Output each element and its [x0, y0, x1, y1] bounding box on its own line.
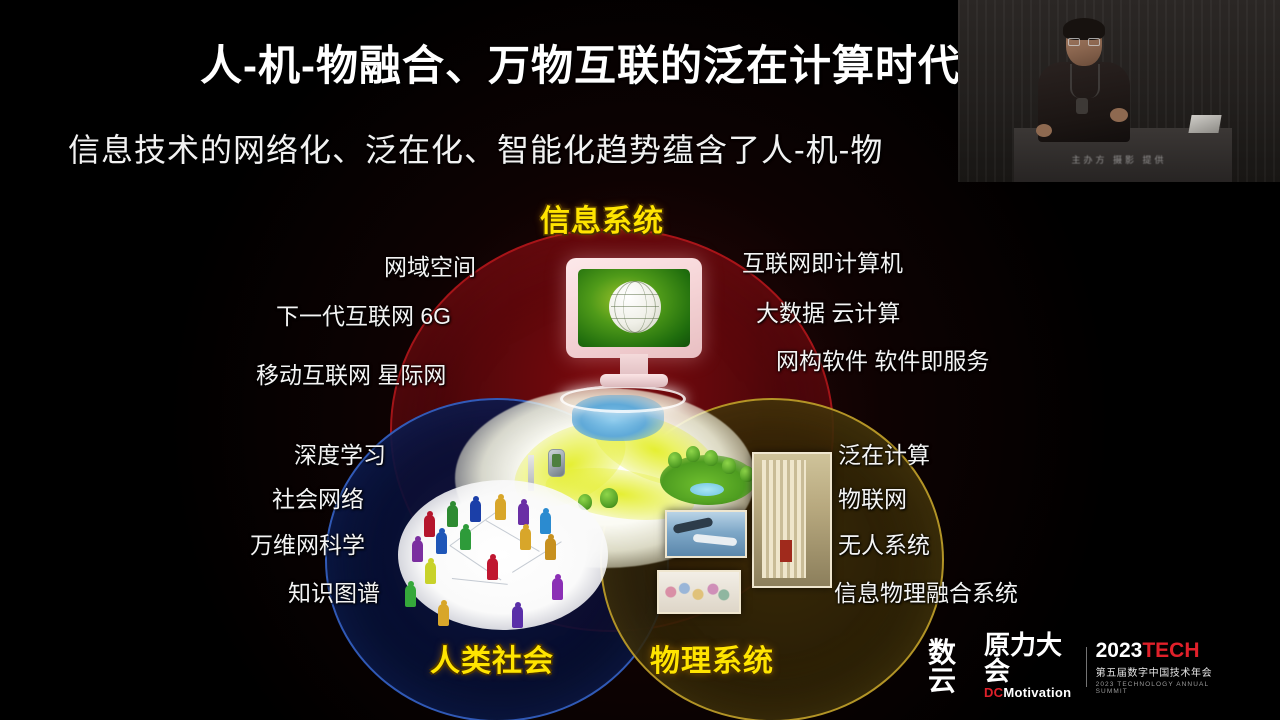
keyword-bottom-left-0: 深度学习: [294, 436, 386, 470]
person-icon: [447, 505, 458, 527]
keyword-top-right-0: 互联网即计算机: [742, 244, 903, 278]
logo-dc-motivation: DCMotivation: [984, 684, 1077, 702]
person-icon: [436, 532, 447, 554]
person-icon: [460, 528, 471, 550]
tree-icon: [600, 488, 618, 508]
person-icon: [412, 540, 423, 562]
person-icon: [552, 578, 563, 600]
person-icon: [520, 528, 531, 550]
monitor-body: [566, 258, 702, 358]
monitor-screen: [578, 269, 690, 347]
logo-tech-text: TECH: [1142, 640, 1199, 661]
speaker-hand: [1110, 108, 1128, 122]
logo-subtitle-en: 2023 TECHNOLOGY ANNUAL SUMMIT: [1096, 681, 1228, 695]
monitor-neck: [620, 354, 648, 376]
tree-icon: [668, 452, 682, 468]
speaker-video-overlay[interactable]: 主办方 摄影 提供: [958, 0, 1280, 182]
laptop-icon: [1188, 115, 1221, 133]
computer-monitor-icon: [566, 258, 702, 390]
keyword-top-left-2: 移动互联网 星际网: [256, 356, 446, 390]
crowd-photo: [657, 570, 741, 614]
lake-icon: [690, 483, 724, 496]
mobile-phone-icon: [548, 449, 565, 477]
keyword-top-right-2: 网构软件 软件即服务: [776, 342, 989, 376]
logo-motivation-text: Motivation: [1003, 685, 1071, 700]
logo-subtitle-cn: 第五届数字中国技术年会: [1096, 664, 1228, 679]
airplane-photo: [665, 510, 747, 558]
person-icon: [424, 515, 435, 537]
microphone-icon: [1076, 98, 1088, 114]
person-icon: [438, 604, 449, 626]
keyword-bottom-right-0: 泛在计算: [838, 436, 930, 470]
logo-dc-text: DC: [984, 685, 1003, 700]
speaker-hair: [1063, 18, 1105, 40]
presentation-slide: 人-机-物融合、万物互联的泛在计算时代 信息技术的网络化、泛在化、智能化趋势蕴含…: [0, 0, 1280, 720]
keyword-top-left-1: 下一代互联网 6G: [276, 297, 451, 331]
tree-icon: [722, 458, 736, 474]
logo-year-tech: 2023TECH: [1096, 640, 1228, 661]
logo-brand-cn: 数云: [928, 639, 978, 695]
logo-year-text: 2023: [1096, 640, 1143, 661]
keyword-bottom-left-1: 社会网络: [272, 480, 364, 514]
person-icon: [425, 562, 436, 584]
person-icon: [512, 606, 523, 628]
keyword-bottom-right-2: 无人系统: [838, 526, 930, 560]
globe-icon: [609, 281, 661, 333]
lanyard: [1070, 64, 1100, 98]
keyword-bottom-right-1: 物联网: [838, 480, 907, 514]
keyword-top-right-1: 大数据 云计算: [756, 294, 900, 328]
tree-icon: [704, 450, 718, 466]
logo-event-name: 原力大会: [984, 632, 1077, 684]
caption-information-system: 信息系统: [540, 196, 664, 240]
keyword-bottom-left-2: 万维网科学: [250, 526, 365, 560]
video-caption: 主办方 摄影 提供: [958, 153, 1280, 166]
keyword-bottom-right-3: 信息物理融合系统: [834, 574, 1018, 608]
person-icon: [405, 585, 416, 607]
person-icon: [470, 500, 481, 522]
caption-human-society: 人类社会: [430, 636, 554, 680]
skyscraper-photo: [752, 452, 832, 588]
keyword-top-left-0: 网域空间: [384, 248, 476, 282]
person-icon: [487, 558, 498, 580]
tree-icon: [686, 446, 700, 462]
conference-logo: 数云 原力大会 DCMotivation 2023TECH 第五届数字中国技术年…: [928, 636, 1228, 698]
person-icon: [518, 503, 529, 525]
person-icon: [540, 512, 551, 534]
person-icon: [545, 538, 556, 560]
monitor-base: [600, 374, 668, 387]
logo-divider: [1086, 647, 1087, 687]
caption-physical-system: 物理系统: [650, 636, 774, 680]
person-icon: [495, 498, 506, 520]
keyword-bottom-left-3: 知识图谱: [288, 574, 380, 608]
speaker-hand: [1036, 124, 1052, 137]
glasses-icon: [1068, 38, 1100, 46]
